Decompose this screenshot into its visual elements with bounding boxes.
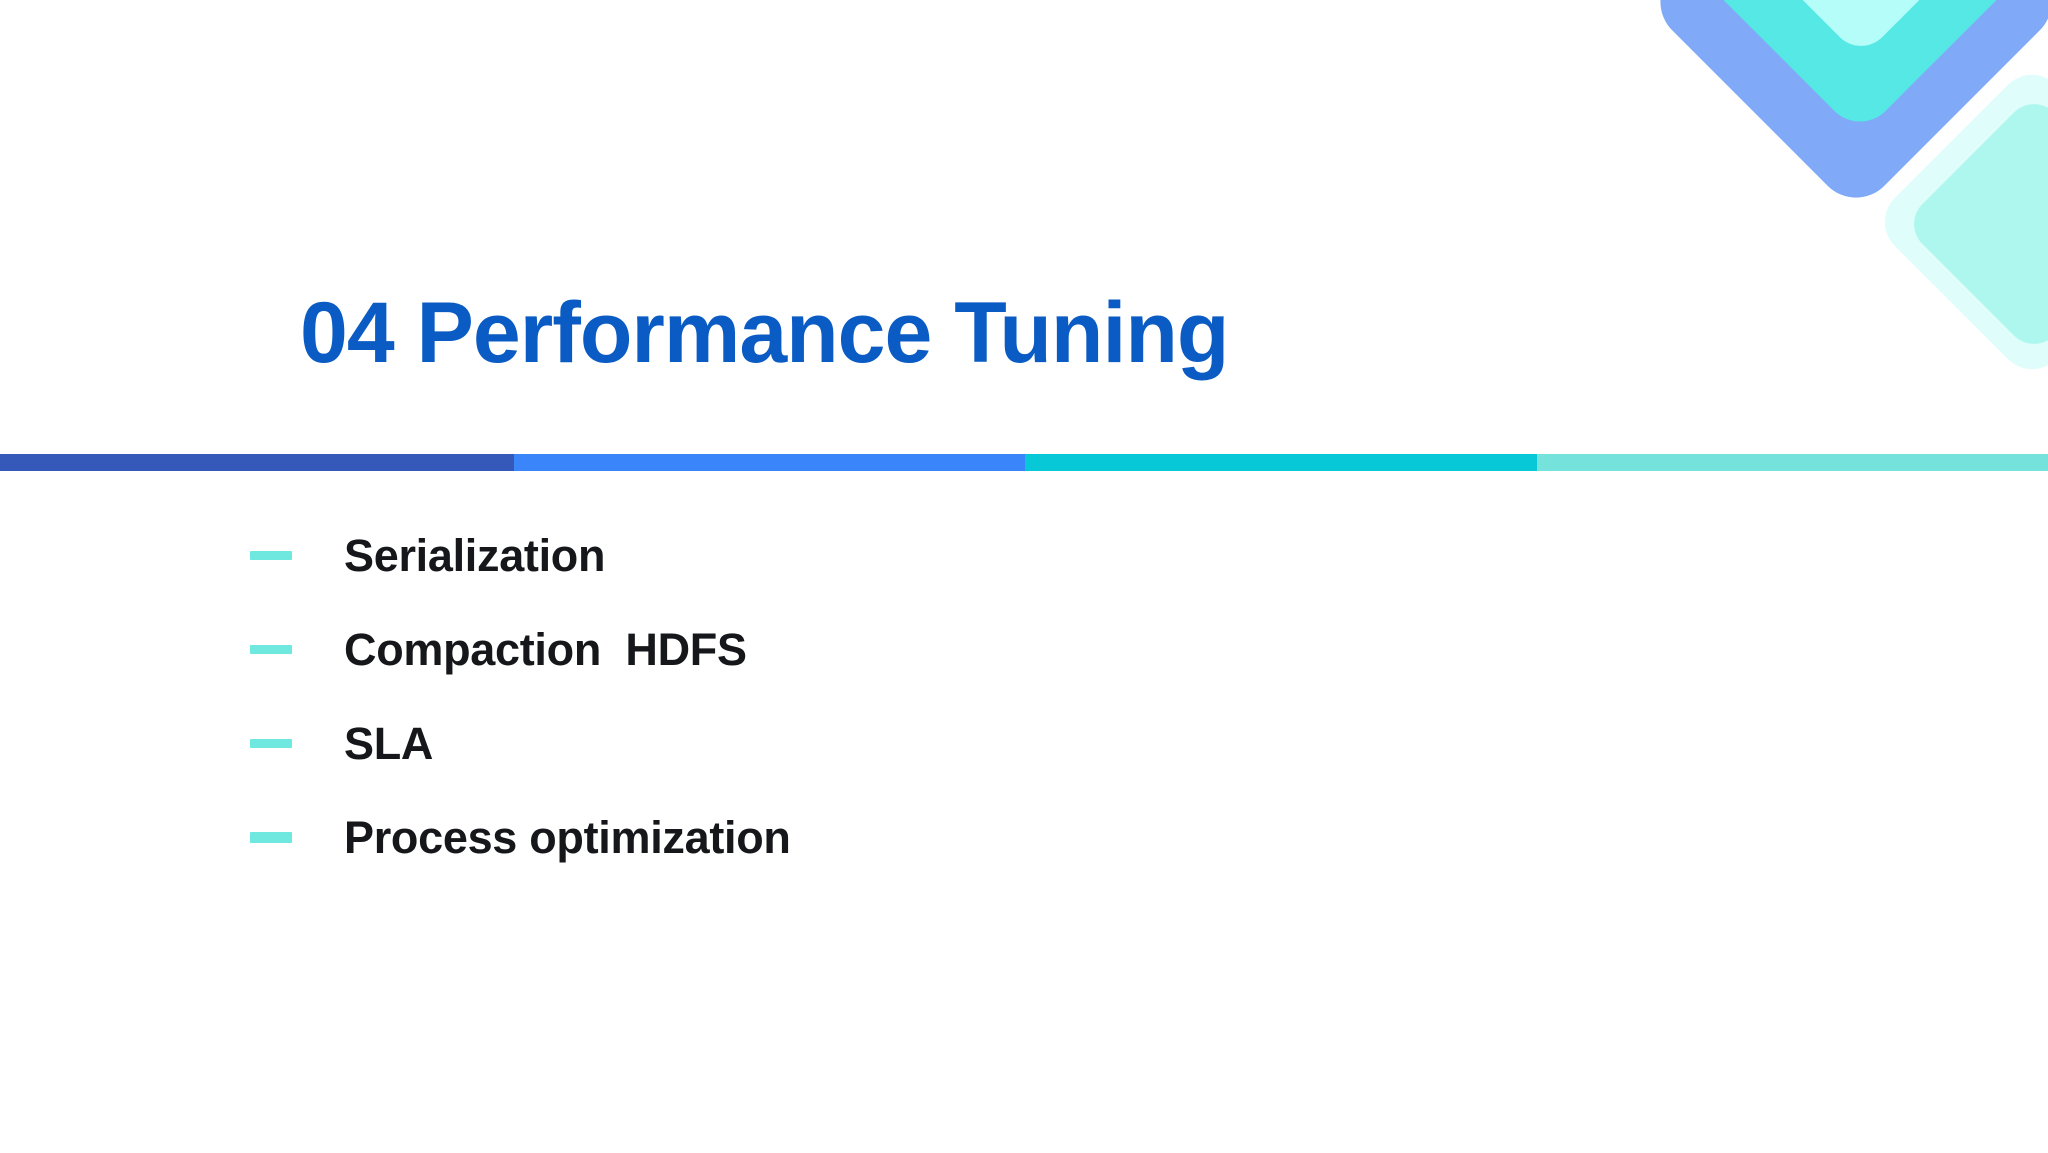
list-item-label: Process optimization	[344, 815, 791, 860]
cyan-diamond-icon	[1678, 0, 2043, 136]
divider-bar	[0, 454, 2048, 471]
list-item-label: Compaction HDFS	[344, 627, 747, 672]
divider-segment-indigo	[0, 454, 514, 471]
pale-diamond-outer-icon	[1871, 61, 2048, 383]
bullet-dash-icon	[250, 551, 292, 560]
decorative-diamonds	[1488, 0, 2048, 420]
bullet-dash-icon	[250, 645, 292, 654]
slide-canvas: 04 Performance Tuning SerializationCompa…	[0, 0, 2048, 1153]
divider-segment-blue	[514, 454, 1025, 471]
list-item: SLA	[250, 696, 1550, 790]
blue-diamond-icon	[1644, 0, 2048, 214]
page-title: 04 Performance Tuning	[300, 288, 1228, 378]
bullet-dash-icon	[250, 832, 292, 843]
divider-segment-aqua	[1537, 454, 2048, 471]
list-item-label: Serialization	[344, 533, 605, 578]
pale-diamond-inner-icon	[1902, 92, 2048, 355]
list-item-label: SLA	[344, 721, 433, 766]
list-item: Compaction HDFS	[250, 602, 1550, 696]
mint-diamond-icon	[1710, 0, 2013, 58]
bullet-list: SerializationCompaction HDFSSLAProcess o…	[250, 508, 1550, 884]
list-item: Serialization	[250, 508, 1550, 602]
bullet-dash-icon	[250, 739, 292, 748]
list-item: Process optimization	[250, 790, 1550, 884]
divider-segment-cyan	[1025, 454, 1537, 471]
